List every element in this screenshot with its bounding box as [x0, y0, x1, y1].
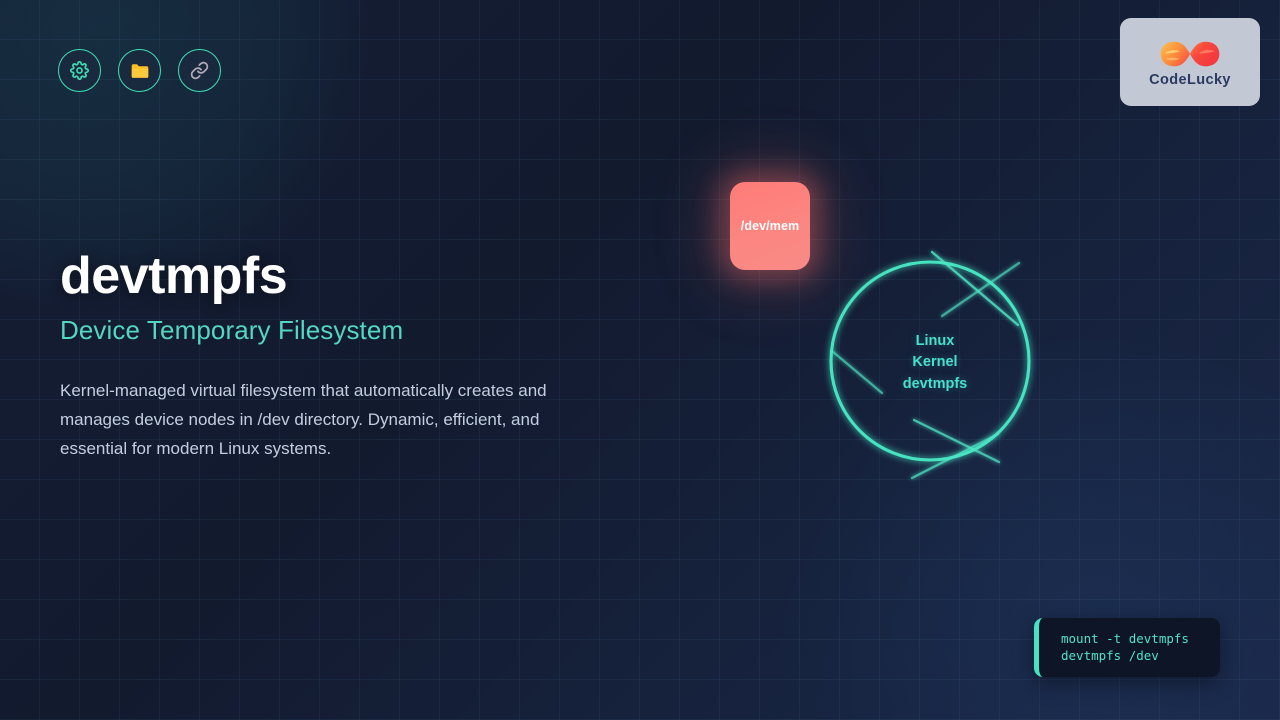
infinity-logo-icon	[1158, 37, 1222, 71]
page-description: Kernel-managed virtual filesystem that a…	[60, 376, 560, 463]
page-subtitle: Device Temporary Filesystem	[60, 315, 620, 346]
toolbar	[58, 49, 221, 92]
files-button[interactable]	[118, 49, 161, 92]
brand-name: CodeLucky	[1149, 72, 1231, 88]
links-button[interactable]	[178, 49, 221, 92]
kernel-circle-diagram: Linux Kernel devtmpfs	[810, 238, 1060, 488]
slide-canvas: CodeLucky devtmpfs Device Temporary File…	[0, 0, 1280, 720]
brand-badge: CodeLucky	[1120, 18, 1260, 106]
settings-button[interactable]	[58, 49, 101, 92]
kernel-connector-lines	[832, 252, 1019, 478]
device-node-card[interactable]: /dev/mem	[730, 182, 810, 270]
kernel-circle-ring	[831, 262, 1029, 460]
command-code-text: mount -t devtmpfs devtmpfs /dev	[1061, 631, 1206, 664]
page-title: devtmpfs	[60, 248, 620, 304]
gear-icon	[70, 61, 89, 80]
folder-icon	[129, 60, 151, 82]
command-code-block[interactable]: mount -t devtmpfs devtmpfs /dev	[1034, 618, 1220, 677]
link-icon	[190, 61, 209, 80]
device-node-label: /dev/mem	[741, 219, 799, 233]
content-block: devtmpfs Device Temporary Filesystem Ker…	[60, 248, 620, 463]
